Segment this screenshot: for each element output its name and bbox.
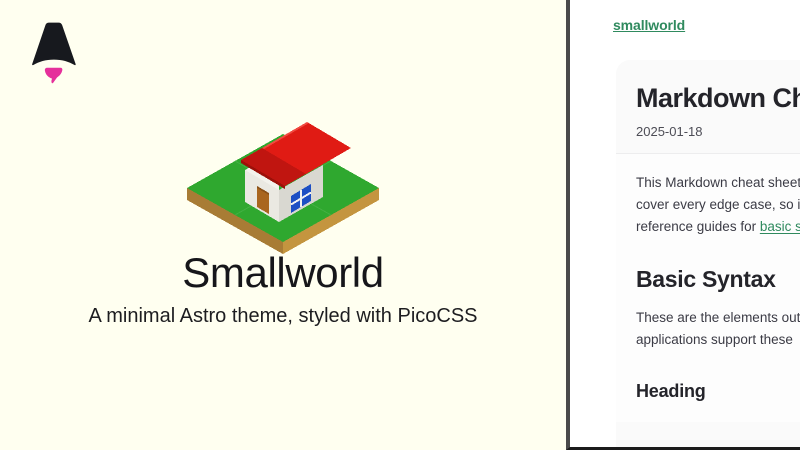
intro-line-3: reference guides for basic s — [636, 216, 800, 238]
section-heading-basic-syntax: Basic Syntax — [636, 266, 800, 293]
hero-panel: Smallworld A minimal Astro theme, styled… — [0, 0, 566, 450]
page-subtitle: A minimal Astro theme, styled with PicoC… — [0, 303, 566, 329]
article-title: Markdown Ch — [636, 82, 800, 114]
intro-line-1: This Markdown cheat sheet — [636, 172, 800, 194]
basic-syntax-link[interactable]: basic s — [760, 219, 800, 234]
screenshot-root: Smallworld A minimal Astro theme, styled… — [0, 0, 800, 450]
astro-logo — [31, 22, 77, 84]
site-inner: smallworld Markdown Ch 2025-01-18 This M… — [570, 0, 800, 447]
section-line-2: applications support these — [636, 329, 800, 351]
intro-paragraph: This Markdown cheat sheet cover every ed… — [636, 172, 800, 238]
article-card: Markdown Ch 2025-01-18 This Markdown che… — [616, 60, 800, 450]
article-body: This Markdown cheat sheet cover every ed… — [616, 154, 800, 421]
intro-line-2: cover every edge case, so if — [636, 194, 800, 216]
article-header: Markdown Ch 2025-01-18 — [616, 60, 800, 154]
brand-link[interactable]: smallworld — [613, 17, 685, 33]
section-paragraph: These are the elements out applications … — [636, 307, 800, 351]
section-line-1: These are the elements out — [636, 307, 800, 329]
article-date: 2025-01-18 — [636, 124, 800, 139]
site-preview-panel: smallworld Markdown Ch 2025-01-18 This M… — [566, 0, 800, 450]
sub-heading-heading: Heading — [636, 381, 800, 402]
isometric-house-illustration — [0, 128, 566, 248]
intro-line-3-text: reference guides for — [636, 219, 760, 234]
page-title: Smallworld — [0, 249, 566, 296]
